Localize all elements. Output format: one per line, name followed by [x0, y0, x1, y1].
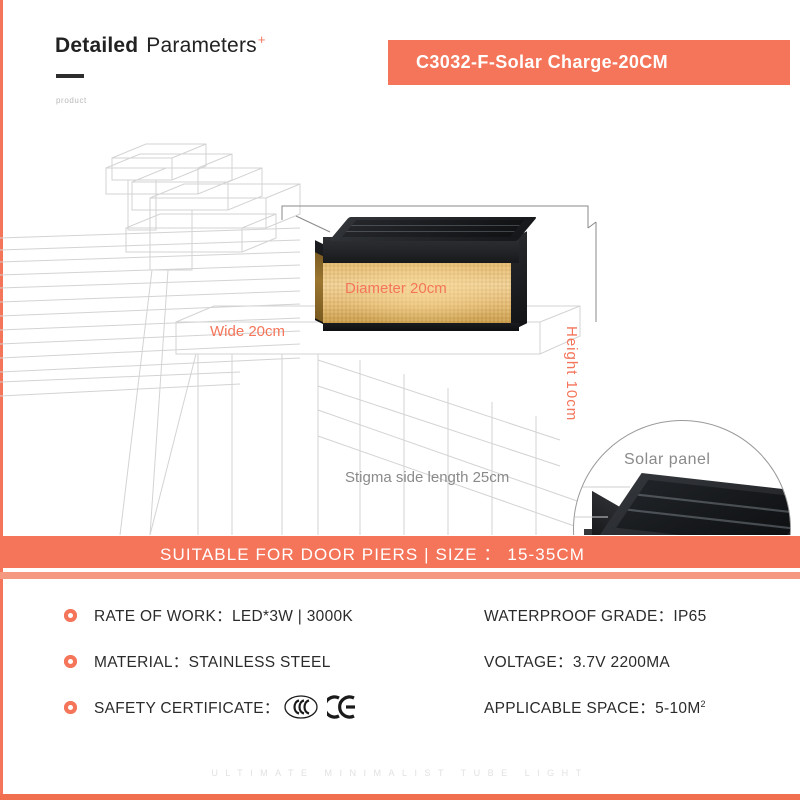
- lamp-base: [323, 323, 519, 331]
- plus-icon: +: [258, 32, 266, 47]
- specifications: RATE OF WORK：LED*3W | 3000K MATERIAL：STA…: [0, 592, 800, 720]
- spec-row: MATERIAL：STAINLESS STEEL: [64, 638, 357, 684]
- spec-separator: ：: [216, 608, 232, 625]
- spec-label-text: VOLTAGE: [484, 654, 557, 671]
- bottom-accent-bar: [0, 794, 800, 800]
- spec-value: 3.7V 2200MA: [573, 654, 670, 671]
- inset-wireframe-lines: [574, 421, 790, 535]
- annotation-diameter: Diameter 20cm: [345, 280, 447, 297]
- spec-value-superscript: 2: [701, 699, 706, 709]
- page-title: DetailedParameters+: [55, 32, 266, 58]
- spec-separator: ：: [639, 700, 655, 717]
- illustration-scene: Diameter 20cm Wide 20cm Height 10cm Stig…: [0, 110, 800, 535]
- spec-label: VOLTAGE：3.7V 2200MA: [484, 650, 670, 672]
- spec-value: 5-10M: [655, 700, 700, 717]
- spec-label-text: SAFETY CERTIFICATE: [94, 700, 264, 717]
- inset-label: Solar panel: [624, 451, 710, 469]
- spec-label: RATE OF WORK：LED*3W | 3000K: [94, 604, 353, 626]
- annotation-height: Height 10cm: [563, 326, 580, 421]
- bullet-icon: [64, 609, 77, 622]
- spec-separator: ：: [557, 654, 573, 671]
- product-lamp-image: [315, 215, 527, 337]
- title-rule: [56, 74, 84, 78]
- page-header: DetailedParameters+: [55, 32, 266, 58]
- spec-row: SAFETY CERTIFICATE：: [64, 684, 357, 730]
- solar-panel-inset: Solar panel: [573, 420, 791, 535]
- spec-label: MATERIAL：STAINLESS STEEL: [94, 650, 331, 672]
- page-title-light: Parameters: [146, 34, 257, 57]
- page-title-bold: Detailed: [55, 34, 138, 57]
- spec-column-right: WATERPROOF GRADE：IP65 VOLTAGE：3.7V 2200M…: [484, 592, 707, 730]
- bullet-icon: [64, 701, 77, 714]
- spec-separator: ：: [658, 608, 674, 625]
- footer-tagline: ULTIMATE MINIMALIST TUBE LIGHT: [0, 768, 800, 778]
- product-spec-page: DetailedParameters+ product C3032-F-Sola…: [0, 0, 800, 800]
- spec-separator: ：: [264, 700, 280, 717]
- suitability-text: SUITABLE FOR DOOR PIERS | SIZE ： 15-35CM: [160, 540, 585, 565]
- band-accent-strip: [0, 572, 800, 579]
- spec-row: APPLICABLE SPACE：5-10M2: [484, 684, 707, 730]
- annotation-stigma-side-length: Stigma side length 25cm: [345, 469, 509, 486]
- suitability-band: SUITABLE FOR DOOR PIERS | SIZE ： 15-35CM: [0, 536, 800, 568]
- spec-label: APPLICABLE SPACE：5-10M2: [484, 696, 706, 718]
- spec-row: RATE OF WORK：LED*3W | 3000K: [64, 592, 357, 638]
- spec-label: WATERPROOF GRADE：IP65: [484, 604, 707, 626]
- model-code-banner: C3032-F-Solar Charge-20CM: [388, 40, 790, 85]
- spec-label: SAFETY CERTIFICATE：: [94, 696, 280, 718]
- ccc-mark-icon: [284, 695, 318, 719]
- lamp-solar-panel-top: [342, 220, 524, 237]
- spec-label-text: WATERPROOF GRADE: [484, 608, 658, 625]
- header-subtitle: product: [56, 96, 87, 105]
- spec-value: STAINLESS STEEL: [189, 654, 331, 671]
- spec-value: LED*3W | 3000K: [232, 608, 353, 625]
- spec-label-text: APPLICABLE SPACE: [484, 700, 639, 717]
- spec-value: IP65: [673, 608, 706, 625]
- spec-separator: ：: [173, 654, 189, 671]
- spec-column-left: RATE OF WORK：LED*3W | 3000K MATERIAL：STA…: [64, 592, 357, 730]
- annotation-width: Wide 20cm: [210, 323, 285, 340]
- model-code-text: C3032-F-Solar Charge-20CM: [416, 52, 668, 73]
- spec-row: WATERPROOF GRADE：IP65: [484, 592, 707, 638]
- spec-row: VOLTAGE：3.7V 2200MA: [484, 638, 707, 684]
- ce-mark-icon: [327, 695, 357, 719]
- certification-marks: [284, 695, 357, 719]
- bullet-icon: [64, 655, 77, 668]
- spec-label-text: MATERIAL: [94, 654, 173, 671]
- spec-label-text: RATE OF WORK: [94, 608, 216, 625]
